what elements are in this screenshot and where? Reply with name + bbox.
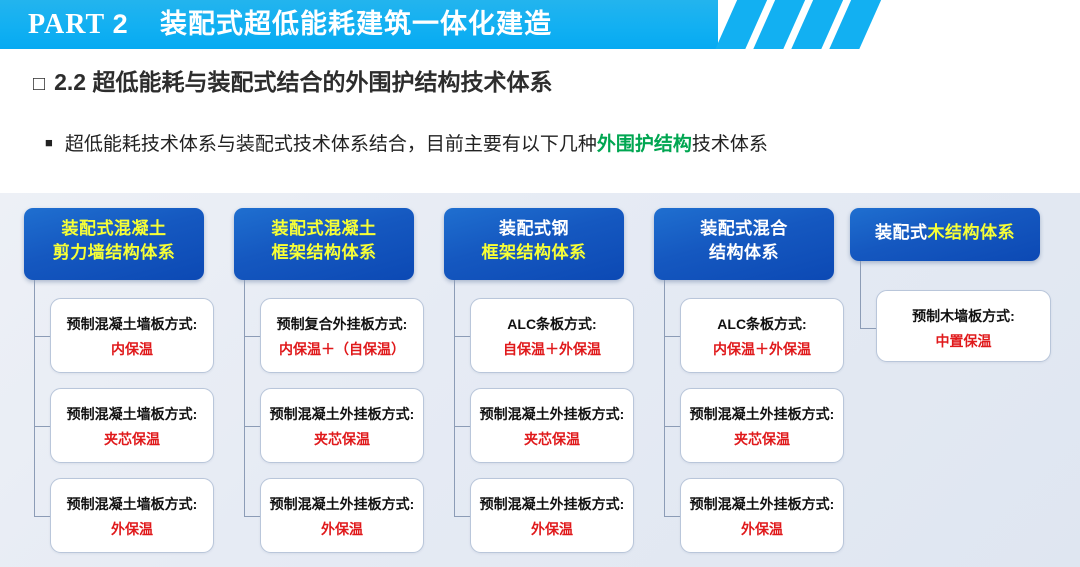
card-label: 预制木墙板方式: <box>877 306 1050 327</box>
column-header-segment-0: 装配式混凝土 <box>62 219 167 238</box>
card-label: ALC条板方式: <box>471 314 633 335</box>
column-header-line-0: 装配式钢 <box>450 217 618 241</box>
connector-trunk <box>454 280 455 516</box>
diagram-card[interactable]: 预制混凝土墙板方式:外保温 <box>50 478 214 553</box>
column-header-line-1: 结构体系 <box>660 241 828 265</box>
diagram-card[interactable]: 预制混凝土外挂板方式:夹芯保温 <box>680 388 844 463</box>
card-value: 外保温 <box>51 518 213 540</box>
card-label: ALC条板方式: <box>681 314 843 335</box>
column-header-segment-0: 框架结构体系 <box>272 243 377 262</box>
header-band: PART 2 装配式超低能耗建筑一体化建造 <box>0 0 1080 49</box>
connector-branch <box>244 426 260 427</box>
card-value: 内保温＋外保温 <box>681 338 843 360</box>
card-value: 自保温＋外保温 <box>471 338 633 360</box>
column-header-3[interactable]: 装配式混合结构体系 <box>654 208 834 280</box>
column-header-line-1: 框架结构体系 <box>450 241 618 265</box>
card-value: 夹芯保温 <box>471 428 633 450</box>
card-value: 内保温＋（自保温） <box>261 338 423 360</box>
card-label: 预制混凝土墙板方式: <box>51 404 213 425</box>
column-header-line-1: 剪力墙结构体系 <box>30 241 198 265</box>
card-value: 夹芯保温 <box>261 428 423 450</box>
diagram-card[interactable]: 预制混凝土外挂板方式:外保温 <box>470 478 634 553</box>
diagram-card[interactable]: 预制木墙板方式:中置保温 <box>876 290 1051 362</box>
card-value: 内保温 <box>51 338 213 360</box>
connector-branch <box>34 336 50 337</box>
bullet-highlight: 外围护结构 <box>597 134 692 155</box>
column-header-line-0: 装配式混合 <box>660 217 828 241</box>
diagram-card[interactable]: ALC条板方式:自保温＋外保温 <box>470 298 634 373</box>
card-label: 预制混凝土外挂板方式: <box>471 404 633 425</box>
diagram-card[interactable]: 预制混凝土墙板方式:夹芯保温 <box>50 388 214 463</box>
diagram-card[interactable]: 预制混凝土墙板方式:内保温 <box>50 298 214 373</box>
card-value: 外保温 <box>681 518 843 540</box>
section-subtitle: □2.2 超低能耗与装配式结合的外围护结构技术体系 <box>33 67 552 99</box>
connector-trunk <box>244 280 245 516</box>
diagram-card[interactable]: ALC条板方式:内保温＋外保温 <box>680 298 844 373</box>
card-value: 夹芯保温 <box>681 428 843 450</box>
column-header-segment-0: 装配式 <box>875 223 928 242</box>
connector-branch <box>454 516 470 517</box>
connector-branch <box>664 336 680 337</box>
card-label: 预制混凝土墙板方式: <box>51 494 213 515</box>
card-label: 预制复合外挂板方式: <box>261 314 423 335</box>
page-title: 装配式超低能耗建筑一体化建造 <box>160 6 552 42</box>
subtitle-text: 2.2 超低能耗与装配式结合的外围护结构技术体系 <box>54 69 552 95</box>
column-header-segment-0: 装配式混合 <box>700 219 788 238</box>
connector-branch <box>244 336 260 337</box>
column-header-2[interactable]: 装配式钢框架结构体系 <box>444 208 624 280</box>
card-label: 预制混凝土外挂板方式: <box>681 404 843 425</box>
bullet-marker-icon: ■ <box>45 135 53 150</box>
connector-branch <box>244 516 260 517</box>
card-label: 预制混凝土外挂板方式: <box>471 494 633 515</box>
column-header-segment-0: 装配式混凝土 <box>272 219 377 238</box>
card-value: 夹芯保温 <box>51 428 213 450</box>
column-header-line-1: 框架结构体系 <box>240 241 408 265</box>
column-header-segment-0: 装配式钢 <box>499 219 569 238</box>
column-header-4[interactable]: 装配式木结构体系 <box>850 208 1040 261</box>
column-header-segment-1: 木结构体系 <box>928 223 1016 242</box>
part-label-number: 2 <box>113 9 129 39</box>
bullet-text-before: 超低能耗技术体系与装配式技术体系结合，目前主要有以下几种 <box>65 134 597 155</box>
connector-branch <box>860 328 876 329</box>
card-value: 外保温 <box>261 518 423 540</box>
subtitle-marker-icon: □ <box>33 73 45 95</box>
column-header-0[interactable]: 装配式混凝土剪力墙结构体系 <box>24 208 204 280</box>
connector-trunk <box>34 280 35 516</box>
connector-branch <box>454 336 470 337</box>
column-header-segment-0: 结构体系 <box>709 243 779 262</box>
connector-trunk <box>860 261 861 328</box>
column-header-line-0: 装配式木结构体系 <box>856 221 1034 245</box>
card-label: 预制混凝土墙板方式: <box>51 314 213 335</box>
column-header-1[interactable]: 装配式混凝土框架结构体系 <box>234 208 414 280</box>
card-value: 外保温 <box>471 518 633 540</box>
diagram-card[interactable]: 预制复合外挂板方式:内保温＋（自保温） <box>260 298 424 373</box>
diagram-panel: 装配式混凝土剪力墙结构体系预制混凝土墙板方式:内保温预制混凝土墙板方式:夹芯保温… <box>0 193 1080 567</box>
card-label: 预制混凝土外挂板方式: <box>261 494 423 515</box>
connector-trunk <box>664 280 665 516</box>
card-label: 预制混凝土外挂板方式: <box>681 494 843 515</box>
diagram-card[interactable]: 预制混凝土外挂板方式:外保温 <box>260 478 424 553</box>
connector-branch <box>34 516 50 517</box>
bullet-text-after: 技术体系 <box>692 134 768 155</box>
column-header-line-0: 装配式混凝土 <box>30 217 198 241</box>
column-header-segment-0: 剪力墙结构体系 <box>53 243 176 262</box>
column-header-segment-0: 框架结构体系 <box>482 243 587 262</box>
part-label: PART 2 <box>28 7 129 42</box>
connector-branch <box>454 426 470 427</box>
diagram-card[interactable]: 预制混凝土外挂板方式:夹芯保温 <box>260 388 424 463</box>
card-value: 中置保温 <box>877 330 1050 352</box>
bullet-line: ■超低能耗技术体系与装配式技术体系结合，目前主要有以下几种外围护结构技术体系 <box>45 130 768 158</box>
column-header-line-0: 装配式混凝土 <box>240 217 408 241</box>
diagram-card[interactable]: 预制混凝土外挂板方式:外保温 <box>680 478 844 553</box>
connector-branch <box>664 426 680 427</box>
connector-branch <box>664 516 680 517</box>
card-label: 预制混凝土外挂板方式: <box>261 404 423 425</box>
diagram-card[interactable]: 预制混凝土外挂板方式:夹芯保温 <box>470 388 634 463</box>
connector-branch <box>34 426 50 427</box>
part-label-word: PART <box>28 9 105 40</box>
